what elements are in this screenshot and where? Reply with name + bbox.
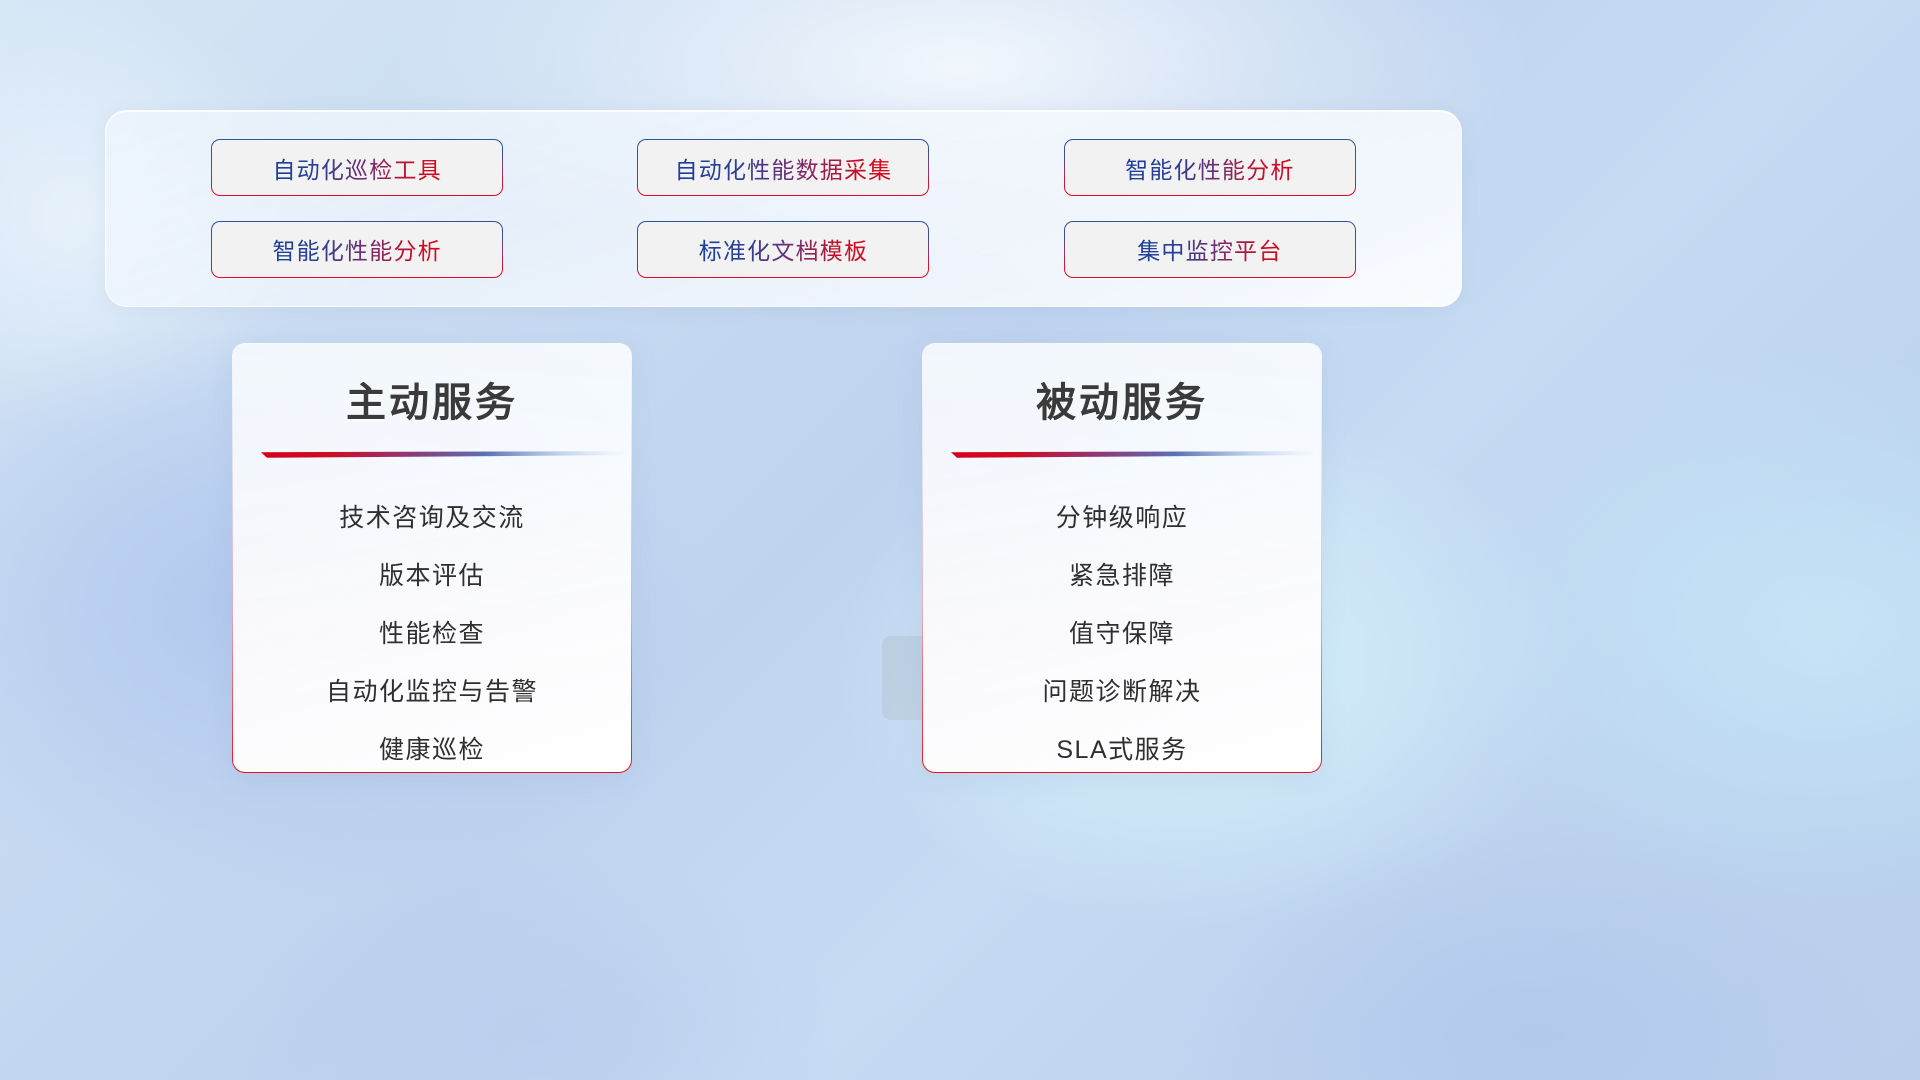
service-card-passive: 被动服务 分钟级响应 紧急排障 值守保障 问题诊断解决 SLA式服务 <box>922 343 1322 773</box>
capability-tag[interactable]: 自动化性能数据采集 <box>637 139 929 196</box>
capability-tag-label: 自动化巡检工具 <box>272 151 441 185</box>
capability-tag-label: 集中监控平台 <box>1137 232 1282 266</box>
capability-tag-label: 智能化性能分析 <box>1125 151 1294 185</box>
service-item: 性能检查 <box>379 603 485 661</box>
capability-tag-grid: 自动化巡检工具 自动化性能数据采集 智能化性能分析 智能化性能分析 标准化文档模… <box>106 111 1461 306</box>
service-item: 分钟级响应 <box>1056 487 1189 545</box>
service-card-active: 主动服务 技术咨询及交流 版本评估 性能检查 自动化监控与告警 健康巡检 <box>232 343 632 773</box>
service-item: 版本评估 <box>379 545 485 603</box>
capability-tag-label: 自动化性能数据采集 <box>675 151 893 185</box>
capability-tag[interactable]: 智能化性能分析 <box>1064 139 1356 196</box>
title-divider <box>951 451 1313 459</box>
service-item: 健康巡检 <box>379 719 485 777</box>
capabilities-panel: 自动化巡检工具 自动化性能数据采集 智能化性能分析 智能化性能分析 标准化文档模… <box>105 110 1462 307</box>
capability-tag[interactable]: 标准化文档模板 <box>637 221 929 278</box>
service-item: 值守保障 <box>1069 603 1175 661</box>
capability-tag[interactable]: 智能化性能分析 <box>211 221 503 278</box>
service-item: 紧急排障 <box>1069 545 1175 603</box>
capability-tag[interactable]: 自动化巡检工具 <box>211 139 503 196</box>
service-item-list: 分钟级响应 紧急排障 值守保障 问题诊断解决 SLA式服务 <box>923 487 1321 777</box>
service-card-title: 被动服务 <box>923 370 1321 428</box>
capability-tag-label: 标准化文档模板 <box>699 232 868 266</box>
capability-tag-label: 智能化性能分析 <box>272 232 441 266</box>
service-item: 问题诊断解决 <box>1042 661 1201 719</box>
service-item: SLA式服务 <box>1056 719 1187 777</box>
capability-tag[interactable]: 集中监控平台 <box>1064 221 1356 278</box>
service-item-list: 技术咨询及交流 版本评估 性能检查 自动化监控与告警 健康巡检 <box>233 487 631 777</box>
service-item: 自动化监控与告警 <box>326 661 538 719</box>
service-card-title: 主动服务 <box>233 370 631 428</box>
title-divider <box>261 451 623 459</box>
service-item: 技术咨询及交流 <box>339 487 525 545</box>
